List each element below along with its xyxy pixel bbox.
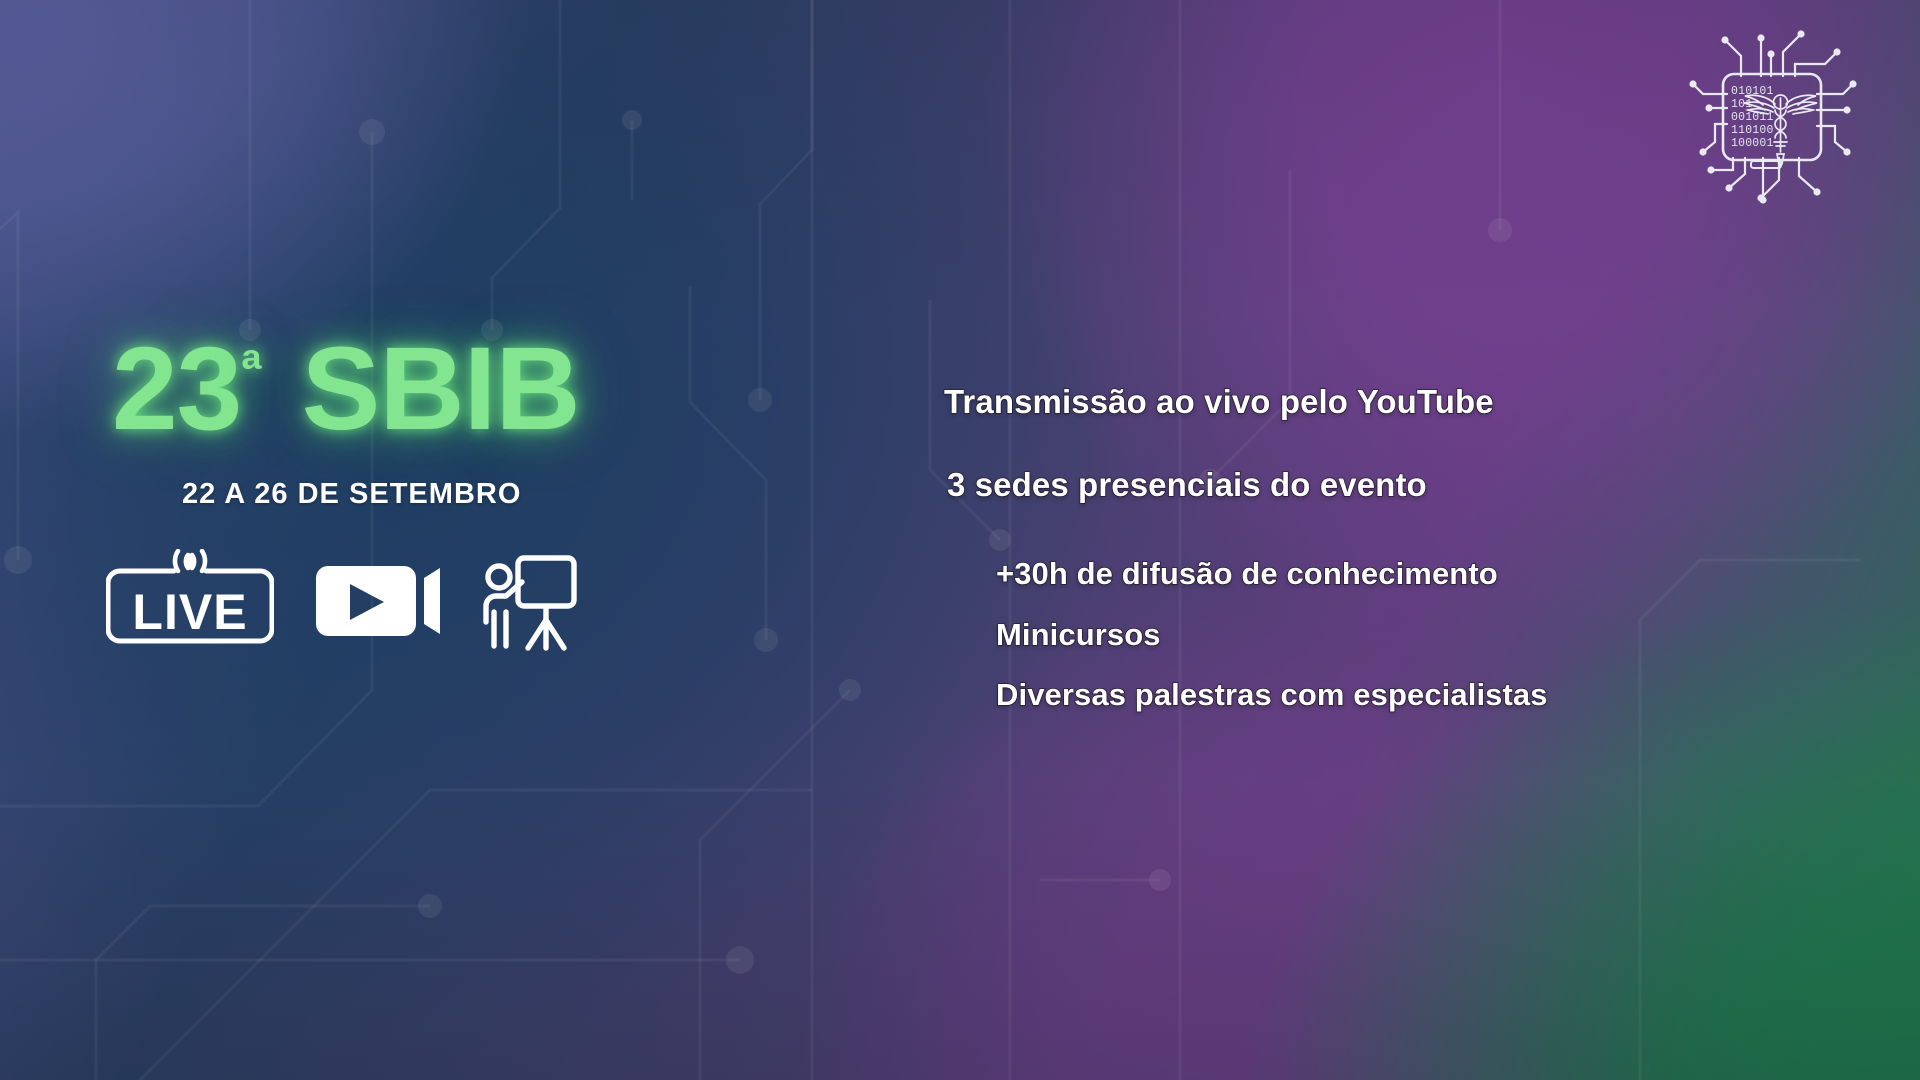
event-identity-block: 23ª SBIB 22 A 26 DE SETEMBRO LIVE [0,330,720,658]
event-info-block: Transmissão ao vivo pelo YouTube 3 sedes… [944,382,1844,719]
video-camera-play-icon [316,560,440,647]
info-headline-broadcast: Transmissão ao vivo pelo YouTube [944,382,1844,422]
sbib-circuit-caduceus-logo: 010101 101 001011 110100 100001 [1675,24,1865,214]
event-dates: 22 A 26 DE SETEMBRO [0,478,720,511]
list-item: Minicursos [996,612,1844,659]
logo-binary-row: 100001 [1731,137,1774,150]
page-title: 23ª SBIB [0,330,720,448]
live-broadcast-icon: LIVE [106,549,274,658]
title-ordinal: ª [241,339,262,401]
info-headline-venues: 3 sedes presenciais do evento [947,465,1844,505]
presenter-whiteboard-icon [482,550,578,657]
logo-binary-row: 110100 [1731,124,1774,137]
list-item: Diversas palestras com especialistas [996,672,1844,719]
feature-list: +30h de difusão de conhecimento Minicurs… [996,551,1844,719]
format-icon-row: LIVE [0,549,720,658]
live-label: LIVE [132,584,247,640]
list-item: +30h de difusão de conhecimento [996,551,1844,598]
logo-binary-row: 001011 [1731,111,1774,124]
title-number: 23 [112,323,241,455]
title-acronym: SBIB [302,323,580,455]
